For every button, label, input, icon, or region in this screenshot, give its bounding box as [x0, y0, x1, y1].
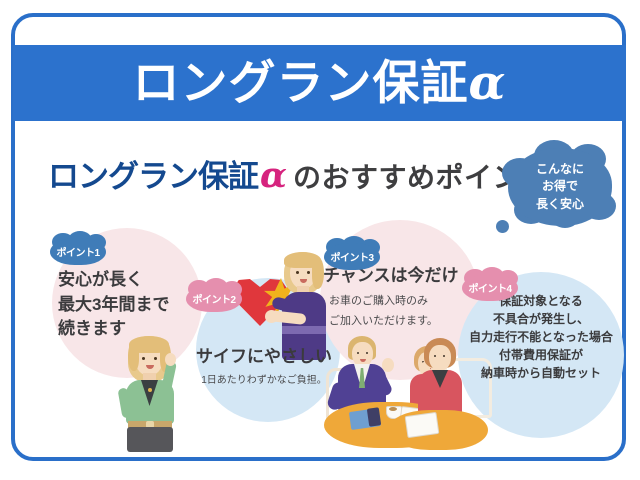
bubble-line: 長く安心 — [536, 196, 584, 213]
eye-right — [307, 271, 310, 274]
point-2-badge-label: ポイント2 — [186, 285, 242, 312]
bubble-line: お得で — [542, 178, 578, 195]
title-band: ロングラン保証α — [13, 45, 626, 121]
hand — [265, 310, 278, 323]
man-eye-right — [366, 352, 368, 354]
point-2-headline-line: サイフにやさしい — [188, 345, 340, 370]
bubble-line: こんなに — [536, 161, 584, 178]
point-3-badge: ポイント3 — [324, 243, 380, 270]
point-1-headline-line: 最大3年間まで — [58, 293, 169, 318]
point-3-sub-line: ご加入いただけます。 — [323, 313, 459, 330]
point-4-text: 保証対象となる 不具合が発生し、 自力走行不能となった場合 付帯費用保証が 納車… — [458, 292, 624, 382]
eye-right — [154, 357, 157, 360]
point-1-text: 安心が長く 最大3年間まで 続きます — [58, 268, 169, 342]
point-4-sub-line: 納車時から自動セット — [458, 364, 624, 382]
hair-side-left — [128, 341, 139, 371]
point-1-headline-line: 続きます — [58, 317, 169, 342]
point-4-badge-label: ポイント4 — [462, 274, 518, 301]
illustration-woman-green — [108, 336, 194, 452]
point-3-text: チャンスは今だけ お車のご購入時のみ ご加入いただけます。 — [323, 264, 459, 330]
page-title-main: ロングラン保証 — [133, 56, 469, 109]
eye-left — [296, 271, 299, 274]
necklace — [148, 388, 152, 392]
subheadline: ロングラン保証αのおすすめポイント — [48, 158, 549, 193]
point-4-sub-line: 不具合が発生し、 — [458, 310, 624, 328]
skirt — [127, 427, 173, 452]
point-1-badge: ポイント1 — [50, 238, 106, 265]
eye-left — [142, 357, 145, 360]
subheadline-alpha: α — [258, 155, 289, 196]
point-2-text: サイフにやさしい 1日あたりわずかなご負担。 — [188, 345, 340, 388]
point-2-badge: ポイント2 — [186, 285, 242, 312]
eye-right — [443, 355, 445, 357]
hand-raised — [165, 353, 176, 366]
eye-left — [434, 355, 436, 357]
document — [405, 412, 440, 438]
bubble-text: こんなに お得で 長く安心 — [508, 148, 612, 226]
warranty-poster: ロングラン保証α ロングラン保証αのおすすめポイント こんなに お得で 長く安心 — [0, 0, 640, 480]
point-4-sub-line: 付帯費用保証が — [458, 346, 624, 364]
brochure-fold — [367, 407, 381, 426]
thought-bubble: こんなに お得で 長く安心 — [508, 148, 612, 226]
point-1-headline-line: 安心が長く — [58, 268, 169, 293]
point-1-badge-label: ポイント1 — [50, 238, 106, 265]
subheadline-brand: ロングラン保証 — [48, 159, 258, 194]
coffee-surface — [389, 407, 397, 411]
point-3-sub-line: お車のご購入時のみ — [323, 293, 459, 310]
point-4-badge: ポイント4 — [462, 274, 518, 301]
page-title: ロングラン保証α — [133, 59, 507, 107]
illustration-woman-heart — [232, 252, 332, 360]
point-2-sub-line: 1日あたりわずかなご負担。 — [188, 373, 340, 388]
man-eye-left — [357, 352, 359, 354]
point-3-badge-label: ポイント3 — [324, 243, 380, 270]
page-title-alpha: α — [469, 55, 507, 111]
point-4-sub-line: 自力走行不能となった場合 — [458, 328, 624, 346]
